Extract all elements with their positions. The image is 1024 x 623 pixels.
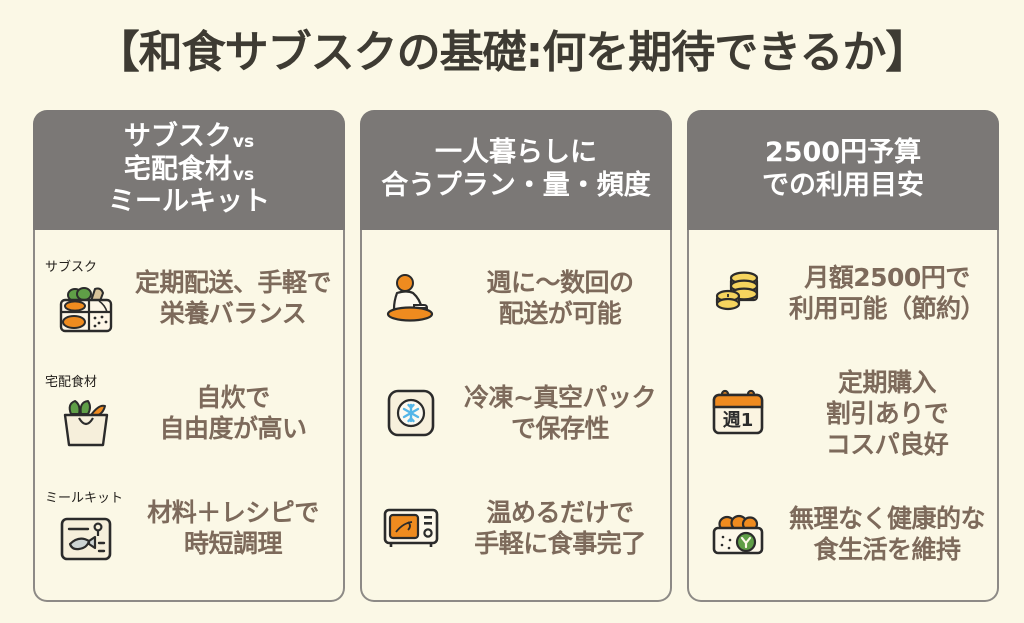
row-text-line: 自由度が高い [135,413,331,444]
card-header-budget: 2500円予算 での利用目安 [687,110,999,230]
card-body-compare: サブスク [33,230,345,602]
row-text: 定期配送、手軽で 栄養バランス [135,267,331,329]
header-line-2: 合うプラン・量・頻度 [381,170,650,203]
infographic-page: 【和食サブスクの基礎:何を期待できるか】 サブスクvs 宅配食材vs ミールキッ… [0,0,1024,623]
icon-column [701,262,775,324]
row-text-line: 利用可能（節約） [789,293,985,324]
row-text: 月額2500円で 利用可能（節約） [789,262,985,324]
vs-label-1: vs [233,132,254,152]
fish-plate-icon [52,508,120,570]
row-text-line: 週に〜数回の [462,267,658,298]
row-text-line: 温めるだけで [462,497,658,528]
list-item: 宅配食材 自炊で 自由度が [43,371,335,454]
row-text-line: 時短調理 [135,528,331,559]
mini-label-subscription: サブスク [45,256,97,275]
card-plan: 一人暮らしに 合うプラン・量・頻度 [360,110,672,602]
header-line-2: での利用目安 [762,170,924,203]
row-text-line: 無理なく健康的な [789,503,985,534]
row-text: 冷凍~真空パック で保存性 [462,382,658,444]
list-item: 週に〜数回の 配送が可能 [370,267,662,329]
row-text-line: 食生活を維持 [789,534,985,565]
mini-label-delivery-ingredients: 宅配食材 [45,371,97,390]
row-text: 自炊で 自由度が高い [135,382,331,444]
header-line-1: 一人暮らしに [435,137,597,170]
row-text-line: 定期配送、手軽で [135,267,331,298]
list-item: 無理なく健康的な 食生活を維持 [697,503,989,565]
header-line-3: ミールキット [108,186,270,219]
list-item: 週1 定期購入 割引ありで コスパ良好 [697,367,989,460]
card-body-budget: 月額2500円で 利用可能（節約） 週1 [687,230,999,602]
card-body-plan: 週に〜数回の 配送が可能 [360,230,672,602]
row-text: 材料＋レシピで 時短調理 [135,497,331,559]
list-item: 冷凍~真空パック で保存性 [370,382,662,444]
row-text: 定期購入 割引ありで コスパ良好 [789,367,985,460]
icon-column [374,267,448,329]
header-text-1: サブスク [124,121,232,152]
vs-label-2: vs [233,165,254,185]
list-item: 温めるだけで 手軽に食事完了 [370,497,662,559]
row-text-line: 手軽に食事完了 [462,528,658,559]
card-compare: サブスクvs 宅配食材vs ミールキット サブスク [33,110,345,602]
row-text-line: で保存性 [462,413,658,444]
row-text-line: 配送が可能 [462,298,658,329]
card-grid: サブスクvs 宅配食材vs ミールキット サブスク [33,110,999,602]
vegetable-bag-icon [52,392,120,454]
sitting-person-icon [377,267,445,329]
row-text-line: 月額2500円で [789,262,985,293]
page-title: 【和食サブスクの基礎:何を期待できるか】 [0,16,1024,80]
row-text-line: 栄養バランス [135,298,331,329]
icon-column: ミールキット [47,487,125,570]
row-text: 無理なく健康的な 食生活を維持 [789,503,985,565]
icon-column: サブスク [47,256,125,339]
icon-column [374,382,448,444]
icon-column: 宅配食材 [47,371,125,454]
row-text-line: 冷凍~真空パック [462,382,658,413]
list-item: ミールキット [43,487,335,570]
card-header-compare: サブスクvs 宅配食材vs ミールキット [33,110,345,230]
row-text-line: 定期購入 [789,367,985,398]
freezer-snowflake-icon [377,382,445,444]
icon-column: 週1 [701,382,775,444]
row-text-line: コスパ良好 [789,429,985,460]
coin-stack-icon [704,262,772,324]
list-item: サブスク [43,256,335,339]
header-line-2: 宅配食材vs [124,154,254,187]
icon-column [374,497,448,559]
header-line-1: サブスクvs [124,121,254,154]
card-budget: 2500円予算 での利用目安 [687,110,999,602]
bento-box-icon [704,503,772,565]
icon-column [701,503,775,565]
header-text-2: 宅配食材 [124,154,232,185]
microwave-icon [377,497,445,559]
calendar-icon-text: 週1 [723,410,754,431]
list-item: 月額2500円で 利用可能（節約） [697,262,989,324]
row-text-line: 割引ありで [789,398,985,429]
row-text-line: 材料＋レシピで [135,497,331,528]
header-line-1: 2500円予算 [765,137,921,170]
mini-label-meal-kit: ミールキット [45,487,123,506]
card-header-plan: 一人暮らしに 合うプラン・量・頻度 [360,110,672,230]
row-text-line: 自炊で [135,382,331,413]
row-text: 温めるだけで 手軽に食事完了 [462,497,658,559]
calendar-weekly-icon: 週1 [704,382,772,444]
row-text: 週に〜数回の 配送が可能 [462,267,658,329]
grocery-box-icon [52,277,120,339]
